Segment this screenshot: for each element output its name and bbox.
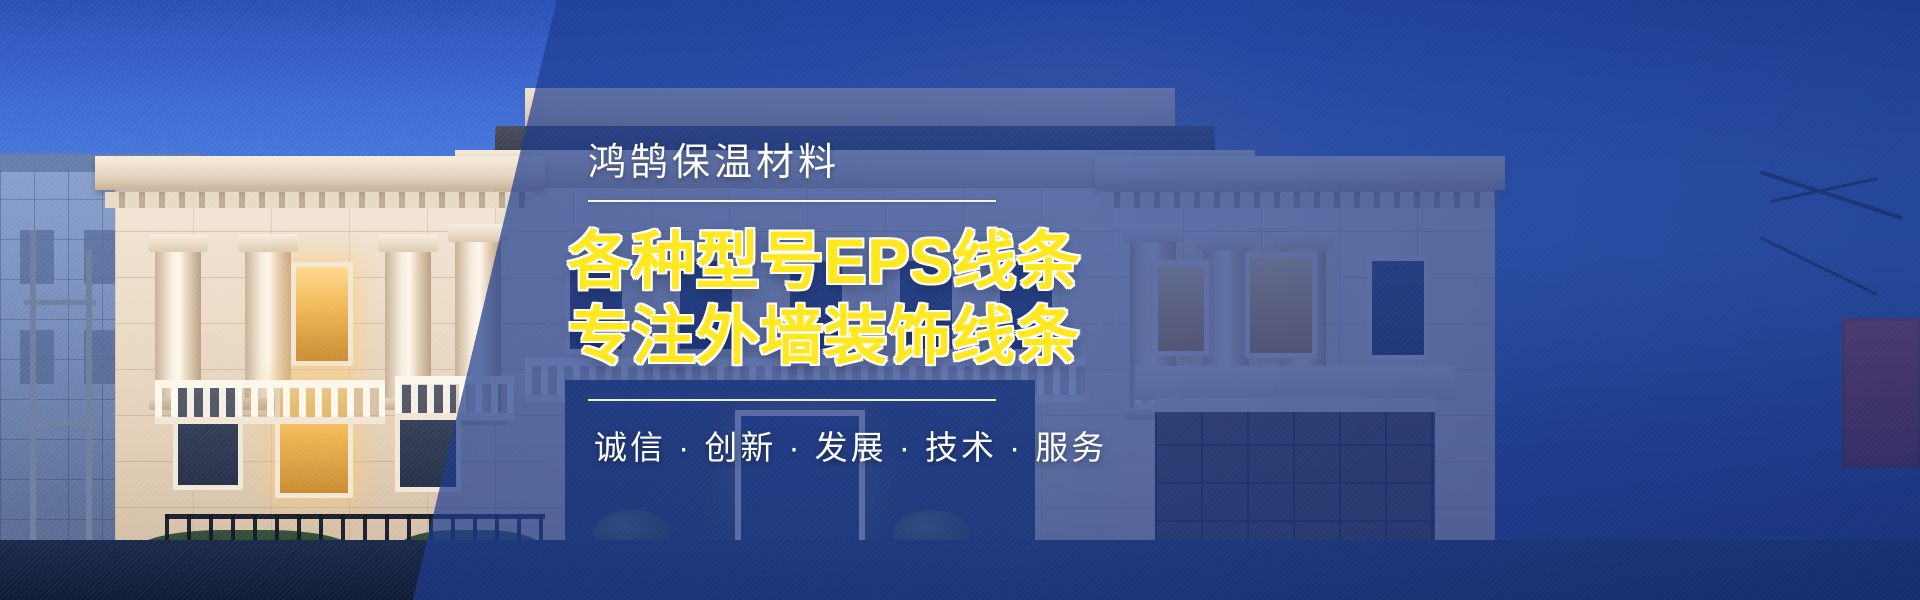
brand-name: 鸿鹄保温材料 (588, 131, 840, 186)
scaffold-pole (30, 230, 36, 560)
left-dentil-band (105, 192, 535, 208)
scaffold-rail (24, 420, 96, 425)
scaffold-rail (24, 300, 96, 305)
distant-window (20, 330, 54, 384)
divider-top (588, 200, 996, 202)
divider-bottom (588, 399, 996, 401)
red-container (1842, 318, 1920, 468)
headline-line-2: 专注外墙装饰线条 (568, 299, 1080, 376)
hero-banner: 鸿鹄保温材料 各种型号EPS线条 专注外墙装饰线条 诚信 · 创新 · 发展 ·… (0, 0, 1920, 600)
distant-window (20, 230, 54, 284)
scaffold-pole (86, 250, 92, 560)
left-wing-roof (95, 156, 545, 190)
column (245, 250, 291, 400)
lit-window (291, 262, 353, 366)
column (155, 250, 201, 400)
window (1367, 256, 1429, 360)
balustrade (155, 380, 385, 424)
banner-content: 鸿鹄保温材料 各种型号EPS线条 专注外墙装饰线条 诚信 · 创新 · 发展 ·… (560, 0, 1280, 600)
headline-line-1: 各种型号EPS线条 (568, 224, 1081, 301)
balustrade (395, 376, 515, 420)
tagline: 诚信 · 创新 · 发展 · 技术 · 服务 (594, 421, 1107, 469)
